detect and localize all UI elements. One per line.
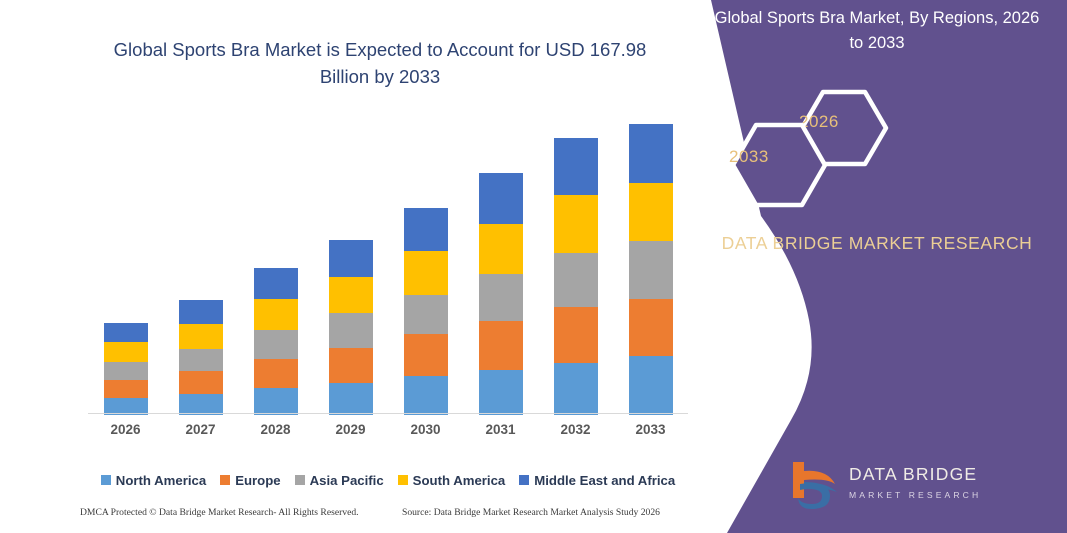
bar-segment xyxy=(404,295,448,335)
company-logo: DATA BRIDGE MARKET RESEARCH xyxy=(787,458,1002,514)
legend-item[interactable]: South America xyxy=(398,473,506,488)
chart-legend: North AmericaEuropeAsia PacificSouth Ame… xyxy=(88,470,688,490)
bar-segment xyxy=(179,371,223,394)
legend-swatch xyxy=(398,475,408,485)
bar-segment xyxy=(479,274,523,322)
legend-item[interactable]: Europe xyxy=(220,473,280,488)
legend-label: Europe xyxy=(235,473,280,488)
infographic-canvas: Global Sports Bra Market is Expected to … xyxy=(0,0,1067,533)
bar-segment xyxy=(479,173,523,224)
bar-segment xyxy=(179,300,223,324)
panel-title: Global Sports Bra Market, By Regions, 20… xyxy=(707,6,1047,56)
bar-segment xyxy=(404,208,448,251)
x-axis-labels: 20262027202820292030203120322033 xyxy=(88,422,688,444)
footer-source: Source: Data Bridge Market Research Mark… xyxy=(402,507,660,518)
bar-segment xyxy=(329,240,373,276)
x-axis-label-2031: 2031 xyxy=(466,422,536,437)
bar-segment xyxy=(329,277,373,313)
bar-segment xyxy=(254,359,298,389)
bar-segment xyxy=(254,268,298,299)
bar-segment xyxy=(254,330,298,359)
x-axis-label-2026: 2026 xyxy=(91,422,161,437)
stacked-bar-chart xyxy=(88,120,688,415)
bar-segment xyxy=(554,253,598,307)
x-axis-label-2032: 2032 xyxy=(541,422,611,437)
bar-segment xyxy=(629,241,673,298)
hexagon-badges: 2026 2033 xyxy=(707,88,1047,210)
bar-2029[interactable] xyxy=(329,240,373,415)
bar-segment xyxy=(329,383,373,415)
legend-item[interactable]: Middle East and Africa xyxy=(519,473,675,488)
legend-label: South America xyxy=(413,473,506,488)
footer-copyright: DMCA Protected © Data Bridge Market Rese… xyxy=(80,507,359,518)
legend-swatch xyxy=(295,475,305,485)
bar-2027[interactable] xyxy=(179,300,223,415)
bar-2028[interactable] xyxy=(254,268,298,415)
bar-segment xyxy=(554,138,598,195)
bar-segment xyxy=(479,321,523,370)
data-bridge-logo-icon xyxy=(787,458,845,512)
x-axis-label-2030: 2030 xyxy=(391,422,461,437)
legend-swatch xyxy=(220,475,230,485)
bar-segment xyxy=(554,307,598,363)
legend-label: Asia Pacific xyxy=(310,473,384,488)
bar-segment xyxy=(629,356,673,415)
bar-2026[interactable] xyxy=(104,323,148,415)
legend-swatch xyxy=(519,475,529,485)
brand-name: DATA BRIDGE MARKET RESEARCH xyxy=(697,228,1057,258)
bar-segment xyxy=(104,362,148,380)
bar-segment xyxy=(179,349,223,371)
bar-segment xyxy=(404,251,448,294)
x-axis-label-2027: 2027 xyxy=(166,422,236,437)
bar-segment xyxy=(329,348,373,383)
bar-2033[interactable] xyxy=(629,124,673,415)
bar-segment xyxy=(629,124,673,183)
bar-2032[interactable] xyxy=(554,138,598,415)
bar-segment xyxy=(404,376,448,415)
brand-panel: Global Sports Bra Market, By Regions, 20… xyxy=(687,0,1067,533)
x-axis-label-2028: 2028 xyxy=(241,422,311,437)
bar-segment xyxy=(404,334,448,376)
bar-segment xyxy=(479,370,523,415)
legend-swatch xyxy=(101,475,111,485)
bar-segment xyxy=(254,299,298,330)
bar-2030[interactable] xyxy=(404,208,448,415)
bar-segment xyxy=(104,342,148,362)
bar-segment xyxy=(179,394,223,415)
logo-wordmark: DATA BRIDGE MARKET RESEARCH xyxy=(849,464,981,503)
bar-segment xyxy=(629,183,673,242)
bar-segment xyxy=(629,299,673,356)
legend-label: North America xyxy=(116,473,206,488)
legend-item[interactable]: North America xyxy=(101,473,206,488)
footer: DMCA Protected © Data Bridge Market Rese… xyxy=(80,507,680,523)
x-axis-label-2033: 2033 xyxy=(616,422,686,437)
bar-segment xyxy=(104,380,148,399)
logo-line-2: MARKET RESEARCH xyxy=(849,490,981,500)
bar-2031[interactable] xyxy=(479,173,523,415)
bar-segment xyxy=(329,313,373,347)
x-axis-line xyxy=(88,413,688,414)
legend-label: Middle East and Africa xyxy=(534,473,675,488)
logo-line-1: DATA BRIDGE xyxy=(849,464,977,484)
x-axis-label-2029: 2029 xyxy=(316,422,386,437)
bar-segment xyxy=(179,324,223,348)
bar-segment xyxy=(554,195,598,252)
legend-item[interactable]: Asia Pacific xyxy=(295,473,384,488)
bar-segment xyxy=(479,224,523,274)
bar-segment xyxy=(554,363,598,415)
page-title: Global Sports Bra Market is Expected to … xyxy=(92,36,668,90)
bar-segment xyxy=(104,323,148,342)
bar-segment xyxy=(254,388,298,415)
